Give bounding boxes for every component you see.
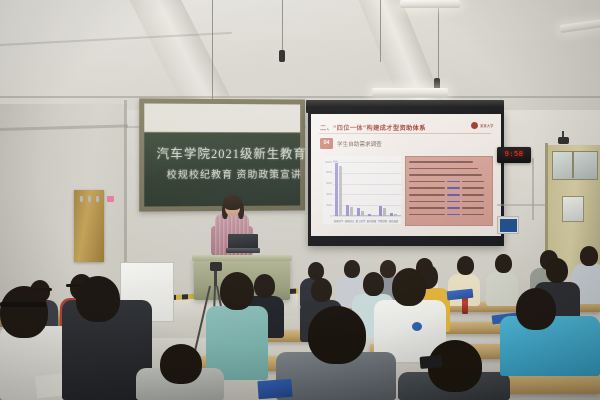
chart-bar: [350, 207, 353, 216]
student-head: [392, 268, 426, 306]
student-head: [76, 276, 120, 322]
chart-bar: [394, 214, 397, 216]
lamp-cable: [282, 0, 283, 50]
student-head: [0, 286, 48, 338]
student-head: [220, 272, 254, 310]
panel-text-line: [462, 207, 484, 209]
lamp-clip: [279, 50, 285, 62]
chart-bar: [357, 208, 360, 216]
student-torso: [486, 272, 518, 306]
ceiling-light: [372, 88, 448, 97]
blackboard-whiteboard-strip: [144, 103, 300, 132]
led-clock-value: 9:58: [497, 150, 531, 158]
chart-gridline: [333, 173, 401, 174]
panel-text-highlight: [447, 181, 459, 183]
blackboard-surface: 汽车学院2021级新生教育 校规校纪教育 资助政策宣讲: [144, 133, 300, 207]
chart-gridline: [333, 194, 401, 195]
panel-text-line: [409, 201, 445, 203]
slide-title: 二、“四位一体”构建成才型资助体系: [320, 123, 426, 132]
laptop-screen[interactable]: [228, 234, 258, 249]
lamp-cable: [212, 0, 213, 104]
university-logo-text: 某某大学: [480, 123, 494, 128]
chart-gridline: [333, 162, 401, 163]
chart-x-tick: 绿色通道: [388, 219, 399, 223]
student-head: [363, 272, 384, 296]
chart-bar: [383, 208, 386, 216]
chart-x-tick: 学费减免: [377, 219, 388, 223]
security-camera-icon: [558, 137, 569, 144]
hook-icon: [96, 196, 99, 202]
presenter-hair: [223, 195, 242, 210]
slide-title-rule: [319, 133, 491, 134]
chart-bar: [335, 163, 338, 216]
chart-y-tick: 0: [323, 215, 332, 218]
chart-gridline: [333, 184, 401, 185]
panel-text-highlight: [447, 214, 459, 216]
panel-text-line: [409, 181, 445, 183]
panel-text-line: [462, 187, 484, 189]
laptop-base[interactable]: [226, 248, 260, 253]
section-number: 04: [320, 140, 333, 146]
chart-y-tick: 2000: [323, 204, 332, 207]
panel-text-line: [409, 194, 445, 196]
chart-gridline: [333, 205, 401, 206]
panel-text-line: [409, 214, 445, 216]
notebook: [257, 379, 292, 399]
panel-text-line: [409, 187, 445, 189]
student-head: [160, 344, 202, 384]
panel-text-line: [409, 161, 473, 163]
slide-bar-chart: 10000800060004000200009800国家助学国家励志勤工助学临时…: [323, 156, 401, 224]
camera-head: [210, 262, 222, 271]
panel-text-highlight: [447, 201, 459, 203]
chart-x-tick: 勤工助学: [355, 219, 366, 223]
chart-bar: [379, 206, 382, 216]
student-head: [495, 254, 512, 273]
chart-bar: [339, 166, 342, 216]
led-clock-display: 9:58: [497, 147, 531, 163]
panel-text-highlight: [447, 194, 459, 196]
door-window-mullion: [572, 151, 574, 178]
student-head: [516, 288, 556, 330]
panel-text-line: [462, 194, 484, 196]
chart-bar: [372, 215, 375, 216]
tripod-column: [214, 270, 217, 286]
student-head: [380, 260, 396, 278]
student-head: [254, 274, 275, 298]
blackboard: 汽车学院2021级新生教育 校规校纪教育 资助政策宣讲: [139, 98, 305, 211]
smartphone[interactable]: [420, 355, 443, 369]
door-window-upper: [552, 151, 598, 180]
panel-text-line: [462, 201, 484, 203]
control-panel-screen[interactable]: [500, 219, 517, 232]
chart-bar: [368, 214, 371, 216]
university-logo-icon: [471, 122, 478, 129]
chart-y-tick: 10000: [323, 161, 332, 164]
chart-y-tick: 4000: [323, 193, 332, 196]
panel-text-line: [409, 207, 445, 209]
student-head: [344, 260, 360, 278]
sticky-note: [107, 196, 114, 202]
wall-control-panel[interactable]: [497, 216, 519, 234]
chart-x-tick: 国家励志: [344, 219, 355, 223]
chart-y-tick: 8000: [323, 171, 332, 174]
hook-icon: [88, 196, 91, 202]
panel-text-line: [462, 181, 484, 183]
chart-x-tick: 临时困难: [366, 219, 377, 223]
panel-text-highlight: [447, 207, 459, 209]
shirt-logo: [412, 322, 422, 331]
panel-text-highlight: [447, 187, 459, 189]
student-head: [457, 256, 474, 275]
student-head: [546, 258, 568, 283]
chart-x-tick: 国家助学: [333, 219, 344, 223]
student-head: [580, 246, 598, 266]
slide-text-panel: [405, 156, 493, 226]
wall-conduit: [532, 158, 534, 220]
lamp-cable: [380, 0, 381, 62]
projection-screen: 二、“四位一体”构建成才型资助体系 某某大学 04 学生自助需求调查 10000…: [311, 114, 501, 236]
chart-bar: [390, 213, 393, 216]
chart-bar: [361, 211, 364, 216]
ceiling-seam: [0, 96, 600, 98]
student-head: [311, 278, 332, 302]
panel-text-line: [462, 214, 484, 216]
student-head: [308, 306, 366, 364]
blackboard-line-1: 汽车学院2021级新生教育: [156, 143, 306, 162]
blackboard-line-2: 校规校纪教育 资助政策宣讲: [167, 166, 302, 181]
panel-text-line: [409, 168, 478, 170]
glasses-icon: [0, 302, 46, 307]
section-title: 学生自助需求调查: [337, 140, 382, 148]
hook-icon: [80, 196, 83, 202]
ceiling-light: [400, 0, 460, 8]
chart-bar: [346, 205, 349, 216]
chart-gridline: [333, 216, 401, 217]
classroom-photo: 汽车学院2021级新生教育 校规校纪教育 资助政策宣讲 二、“四位一体”构建成才…: [0, 0, 600, 400]
panel-text-line: [409, 174, 482, 176]
door-window-lower: [562, 196, 584, 222]
lamp-cable: [438, 0, 439, 84]
lectern-top: [192, 255, 292, 261]
chart-value-label: 9800: [333, 161, 338, 163]
chart-y-tick: 6000: [323, 182, 332, 185]
